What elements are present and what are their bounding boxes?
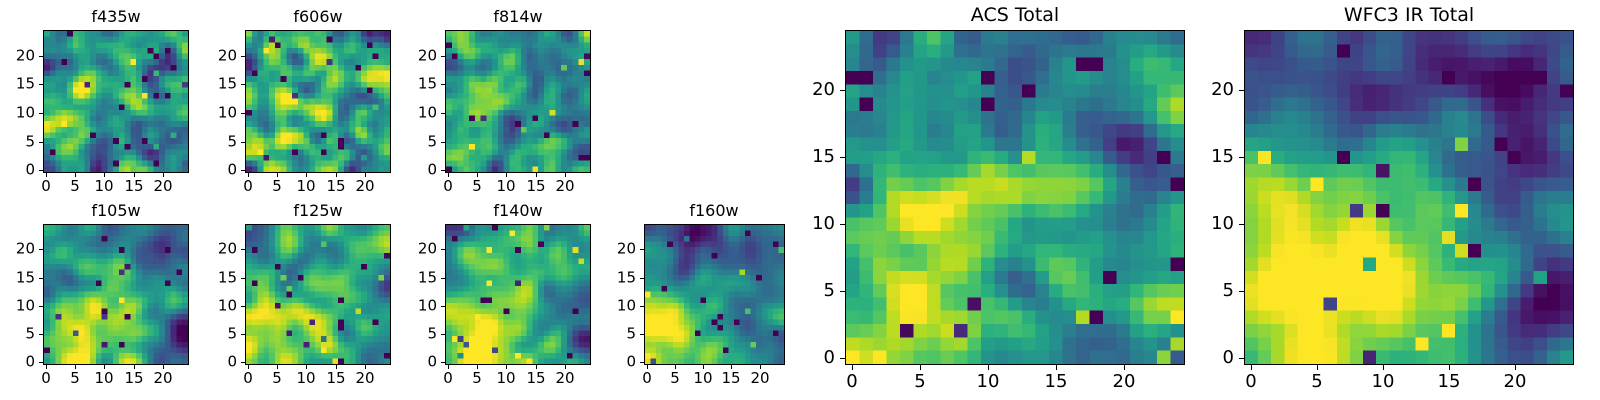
ytick-wfc3-ir-total-0 (1239, 358, 1244, 359)
panel-f435w: f435w0510152005101520 (0, 0, 1600, 400)
heatmap-f160w (644, 224, 785, 365)
heatmap-f606w (245, 30, 391, 173)
xticklabel-acs-total-1: 5 (914, 373, 925, 391)
xtick-f160w-2 (703, 365, 704, 369)
ytick-f160w-4 (640, 249, 644, 250)
panel-title-f160w: f160w (514, 203, 914, 219)
xtick-f435w-4 (163, 173, 164, 177)
xtick-f125w-0 (248, 365, 249, 369)
ytick-acs-total-3 (840, 157, 845, 158)
xticklabel-f814w-1: 5 (472, 179, 482, 194)
ytick-f435w-1 (39, 142, 43, 143)
yticklabel-f140w-0: 0 (277, 355, 437, 370)
xticklabel-f125w-1: 5 (272, 371, 282, 386)
xticklabel-f435w-1: 5 (70, 179, 80, 194)
ytick-f125w-1 (241, 334, 245, 335)
xticklabel-f814w-3: 15 (526, 179, 545, 194)
ytick-f160w-0 (640, 362, 644, 363)
xticklabel-f435w-0: 0 (41, 179, 51, 194)
yticklabel-f125w-2: 10 (77, 299, 237, 314)
xticklabel-f606w-0: 0 (243, 179, 253, 194)
xtick-acs-total-2 (988, 365, 989, 370)
panel-title-wfc3-ir-total: WFC3 IR Total (1209, 6, 1600, 25)
xtick-f606w-3 (336, 173, 337, 177)
xtick-f105w-4 (163, 365, 164, 369)
yticklabel-f160w-1: 5 (476, 327, 636, 342)
xtick-f105w-3 (134, 365, 135, 369)
ytick-f606w-2 (241, 113, 245, 114)
panel-f105w: f105w0510152005101520 (0, 0, 1600, 400)
xtick-acs-total-1 (920, 365, 921, 370)
yticklabel-f125w-4: 20 (77, 242, 237, 257)
heatmap-image-f105w (44, 225, 188, 364)
ytick-acs-total-0 (840, 358, 845, 359)
xtick-wfc3-ir-total-3 (1449, 365, 1450, 370)
xtick-f105w-2 (104, 365, 105, 369)
heatmap-image-f125w (246, 225, 390, 364)
xtick-wfc3-ir-total-4 (1515, 365, 1516, 370)
yticklabel-f125w-3: 15 (77, 271, 237, 286)
ytick-acs-total-4 (840, 90, 845, 91)
xtick-f105w-0 (46, 365, 47, 369)
xticklabel-wfc3-ir-total-0: 0 (1245, 373, 1256, 391)
ytick-wfc3-ir-total-3 (1239, 157, 1244, 158)
ytick-f435w-0 (39, 170, 43, 171)
yticklabel-f125w-0: 0 (77, 355, 237, 370)
ytick-f435w-3 (39, 84, 43, 85)
ytick-f125w-2 (241, 306, 245, 307)
ytick-acs-total-1 (840, 291, 845, 292)
xticklabel-f814w-0: 0 (443, 179, 453, 194)
yticklabel-f125w-1: 5 (77, 327, 237, 342)
xticklabel-f125w-0: 0 (243, 371, 253, 386)
xticklabel-f140w-3: 15 (526, 371, 545, 386)
heatmap-image-f814w (446, 31, 590, 172)
heatmap-acs-total (845, 30, 1185, 365)
panel-title-f125w: f125w (118, 203, 518, 219)
xticklabel-acs-total-3: 15 (1045, 373, 1068, 391)
panel-title-f435w: f435w (0, 9, 316, 25)
xtick-f814w-4 (565, 173, 566, 177)
yticklabel-f105w-3: 15 (0, 271, 35, 286)
yticklabel-f105w-4: 20 (0, 242, 35, 257)
ytick-f105w-4 (39, 249, 43, 250)
xticklabel-f160w-4: 20 (750, 371, 769, 386)
heatmap-f125w (245, 224, 391, 365)
ytick-f140w-2 (441, 306, 445, 307)
xtick-f140w-4 (565, 365, 566, 369)
xtick-f435w-1 (75, 173, 76, 177)
xticklabel-f435w-3: 15 (124, 179, 143, 194)
ytick-f435w-2 (39, 113, 43, 114)
xtick-acs-total-4 (1124, 365, 1125, 370)
xtick-f160w-1 (675, 365, 676, 369)
ytick-f140w-3 (441, 278, 445, 279)
xtick-wfc3-ir-total-1 (1317, 365, 1318, 370)
ytick-f814w-0 (441, 170, 445, 171)
xticklabel-f140w-2: 10 (496, 371, 515, 386)
xtick-acs-total-3 (1056, 365, 1057, 370)
heatmap-wfc3-ir-total (1244, 30, 1574, 365)
xticklabel-f606w-2: 10 (296, 179, 315, 194)
heatmap-f814w (445, 30, 591, 173)
ytick-f125w-4 (241, 249, 245, 250)
yticklabel-wfc3-ir-total-0: 0 (1074, 349, 1234, 367)
yticklabel-f105w-0: 0 (0, 355, 35, 370)
ytick-f814w-2 (441, 113, 445, 114)
ytick-f606w-4 (241, 56, 245, 57)
xtick-f140w-3 (536, 365, 537, 369)
panel-f606w: f606w0510152005101520 (0, 0, 1600, 400)
xtick-wfc3-ir-total-2 (1383, 365, 1384, 370)
yticklabel-f606w-1: 5 (77, 135, 237, 150)
panel-f160w: f160w0510152005101520 (0, 0, 1600, 400)
xtick-f140w-1 (477, 365, 478, 369)
xtick-f814w-0 (448, 173, 449, 177)
ytick-wfc3-ir-total-2 (1239, 224, 1244, 225)
yticklabel-wfc3-ir-total-2: 10 (1074, 215, 1234, 233)
yticklabel-f140w-1: 5 (277, 327, 437, 342)
ytick-f140w-1 (441, 334, 445, 335)
ytick-f140w-4 (441, 249, 445, 250)
yticklabel-f435w-0: 0 (0, 163, 35, 178)
ytick-wfc3-ir-total-4 (1239, 90, 1244, 91)
xticklabel-f814w-2: 10 (496, 179, 515, 194)
xticklabel-f140w-4: 20 (555, 371, 574, 386)
heatmap-image-acs-total (846, 31, 1184, 364)
xtick-f125w-1 (277, 365, 278, 369)
xticklabel-f105w-1: 5 (70, 371, 80, 386)
xticklabel-f160w-1: 5 (670, 371, 680, 386)
yticklabel-f435w-4: 20 (0, 49, 35, 64)
ytick-f105w-0 (39, 362, 43, 363)
heatmap-image-f160w (645, 225, 784, 364)
xtick-f606w-1 (277, 173, 278, 177)
yticklabel-f105w-1: 5 (0, 327, 35, 342)
panel-f140w: f140w0510152005101520 (0, 0, 1600, 400)
yticklabel-f606w-2: 10 (77, 106, 237, 121)
ytick-f606w-0 (241, 170, 245, 171)
yticklabel-f160w-4: 20 (476, 242, 636, 257)
yticklabel-f606w-4: 20 (77, 49, 237, 64)
yticklabel-f140w-4: 20 (277, 242, 437, 257)
xtick-f160w-0 (647, 365, 648, 369)
yticklabel-wfc3-ir-total-4: 20 (1074, 81, 1234, 99)
panel-title-acs-total: ACS Total (815, 6, 1215, 25)
heatmap-image-f140w (446, 225, 590, 364)
panel-title-f606w: f606w (118, 9, 518, 25)
xticklabel-f105w-0: 0 (41, 371, 51, 386)
xticklabel-wfc3-ir-total-1: 5 (1311, 373, 1322, 391)
xticklabel-f140w-1: 5 (472, 371, 482, 386)
panel-title-f105w: f105w (0, 203, 316, 219)
ytick-f606w-3 (241, 84, 245, 85)
xtick-f606w-4 (365, 173, 366, 177)
xticklabel-f160w-2: 10 (693, 371, 712, 386)
heatmap-f140w (445, 224, 591, 365)
xtick-f814w-1 (477, 173, 478, 177)
panel-f814w: f814w0510152005101520 (0, 0, 1600, 400)
ytick-f105w-1 (39, 334, 43, 335)
yticklabel-acs-total-2: 10 (675, 215, 835, 233)
xticklabel-wfc3-ir-total-4: 20 (1504, 373, 1527, 391)
xtick-f140w-0 (448, 365, 449, 369)
ytick-f814w-4 (441, 56, 445, 57)
yticklabel-f160w-3: 15 (476, 271, 636, 286)
xticklabel-acs-total-4: 20 (1113, 373, 1136, 391)
xtick-f435w-0 (46, 173, 47, 177)
ytick-f125w-0 (241, 362, 245, 363)
xticklabel-acs-total-2: 10 (977, 373, 1000, 391)
xticklabel-f105w-3: 15 (124, 371, 143, 386)
figure-canvas: f435w0510152005101520f606w05101520051015… (0, 0, 1600, 400)
xtick-wfc3-ir-total-0 (1251, 365, 1252, 370)
xtick-f435w-2 (104, 173, 105, 177)
ytick-acs-total-2 (840, 224, 845, 225)
yticklabel-f435w-3: 15 (0, 77, 35, 92)
heatmap-f435w (43, 30, 189, 173)
xticklabel-f606w-4: 20 (355, 179, 374, 194)
xtick-f606w-2 (306, 173, 307, 177)
xticklabel-f125w-3: 15 (326, 371, 345, 386)
ytick-f125w-3 (241, 278, 245, 279)
ytick-f606w-1 (241, 142, 245, 143)
ytick-f814w-1 (441, 142, 445, 143)
yticklabel-wfc3-ir-total-1: 5 (1074, 282, 1234, 300)
xticklabel-f435w-4: 20 (153, 179, 172, 194)
xtick-acs-total-0 (852, 365, 853, 370)
yticklabel-wfc3-ir-total-3: 15 (1074, 148, 1234, 166)
heatmap-image-f606w (246, 31, 390, 172)
ytick-f105w-3 (39, 278, 43, 279)
xticklabel-f140w-0: 0 (443, 371, 453, 386)
xtick-f125w-3 (336, 365, 337, 369)
panel-wfc3-ir-total: WFC3 IR Total0510152005101520 (0, 0, 1600, 400)
xticklabel-f160w-0: 0 (642, 371, 652, 386)
yticklabel-f814w-4: 20 (277, 49, 437, 64)
yticklabel-acs-total-4: 20 (675, 81, 835, 99)
yticklabel-f814w-2: 10 (277, 106, 437, 121)
yticklabel-f814w-1: 5 (277, 135, 437, 150)
xticklabel-f105w-2: 10 (94, 371, 113, 386)
yticklabel-f435w-2: 10 (0, 106, 35, 121)
xtick-f160w-3 (731, 365, 732, 369)
xticklabel-f814w-4: 20 (555, 179, 574, 194)
yticklabel-f435w-1: 5 (0, 135, 35, 150)
panel-f125w: f125w0510152005101520 (0, 0, 1600, 400)
xticklabel-f125w-4: 20 (355, 371, 374, 386)
yticklabel-acs-total-1: 5 (675, 282, 835, 300)
yticklabel-f140w-3: 15 (277, 271, 437, 286)
xtick-f125w-2 (306, 365, 307, 369)
xtick-f140w-2 (506, 365, 507, 369)
xtick-f435w-3 (134, 173, 135, 177)
heatmap-image-f435w (44, 31, 188, 172)
xtick-f814w-3 (536, 173, 537, 177)
panel-title-f140w: f140w (318, 203, 718, 219)
ytick-f160w-2 (640, 306, 644, 307)
xticklabel-f606w-3: 15 (326, 179, 345, 194)
xticklabel-acs-total-0: 0 (846, 373, 857, 391)
ytick-f435w-4 (39, 56, 43, 57)
yticklabel-f814w-0: 0 (277, 163, 437, 178)
xtick-f160w-4 (760, 365, 761, 369)
xtick-f105w-1 (75, 365, 76, 369)
yticklabel-f160w-0: 0 (476, 355, 636, 370)
xticklabel-f435w-2: 10 (94, 179, 113, 194)
yticklabel-f160w-2: 10 (476, 299, 636, 314)
yticklabel-f105w-2: 10 (0, 299, 35, 314)
xtick-f125w-4 (365, 365, 366, 369)
xticklabel-f105w-4: 20 (153, 371, 172, 386)
xtick-f606w-0 (248, 173, 249, 177)
panel-acs-total: ACS Total0510152005101520 (0, 0, 1600, 400)
ytick-f105w-2 (39, 306, 43, 307)
yticklabel-acs-total-0: 0 (675, 349, 835, 367)
xtick-f814w-2 (506, 173, 507, 177)
ytick-f140w-0 (441, 362, 445, 363)
yticklabel-acs-total-3: 15 (675, 148, 835, 166)
yticklabel-f140w-2: 10 (277, 299, 437, 314)
xticklabel-wfc3-ir-total-2: 10 (1372, 373, 1395, 391)
xticklabel-f606w-1: 5 (272, 179, 282, 194)
yticklabel-f606w-3: 15 (77, 77, 237, 92)
heatmap-f105w (43, 224, 189, 365)
panel-title-f814w: f814w (318, 9, 718, 25)
ytick-wfc3-ir-total-1 (1239, 291, 1244, 292)
ytick-f160w-1 (640, 334, 644, 335)
xticklabel-f125w-2: 10 (296, 371, 315, 386)
xticklabel-wfc3-ir-total-3: 15 (1438, 373, 1461, 391)
heatmap-image-wfc3-ir-total (1245, 31, 1573, 364)
yticklabel-f814w-3: 15 (277, 77, 437, 92)
ytick-f814w-3 (441, 84, 445, 85)
xticklabel-f160w-3: 15 (721, 371, 740, 386)
yticklabel-f606w-0: 0 (77, 163, 237, 178)
ytick-f160w-3 (640, 278, 644, 279)
